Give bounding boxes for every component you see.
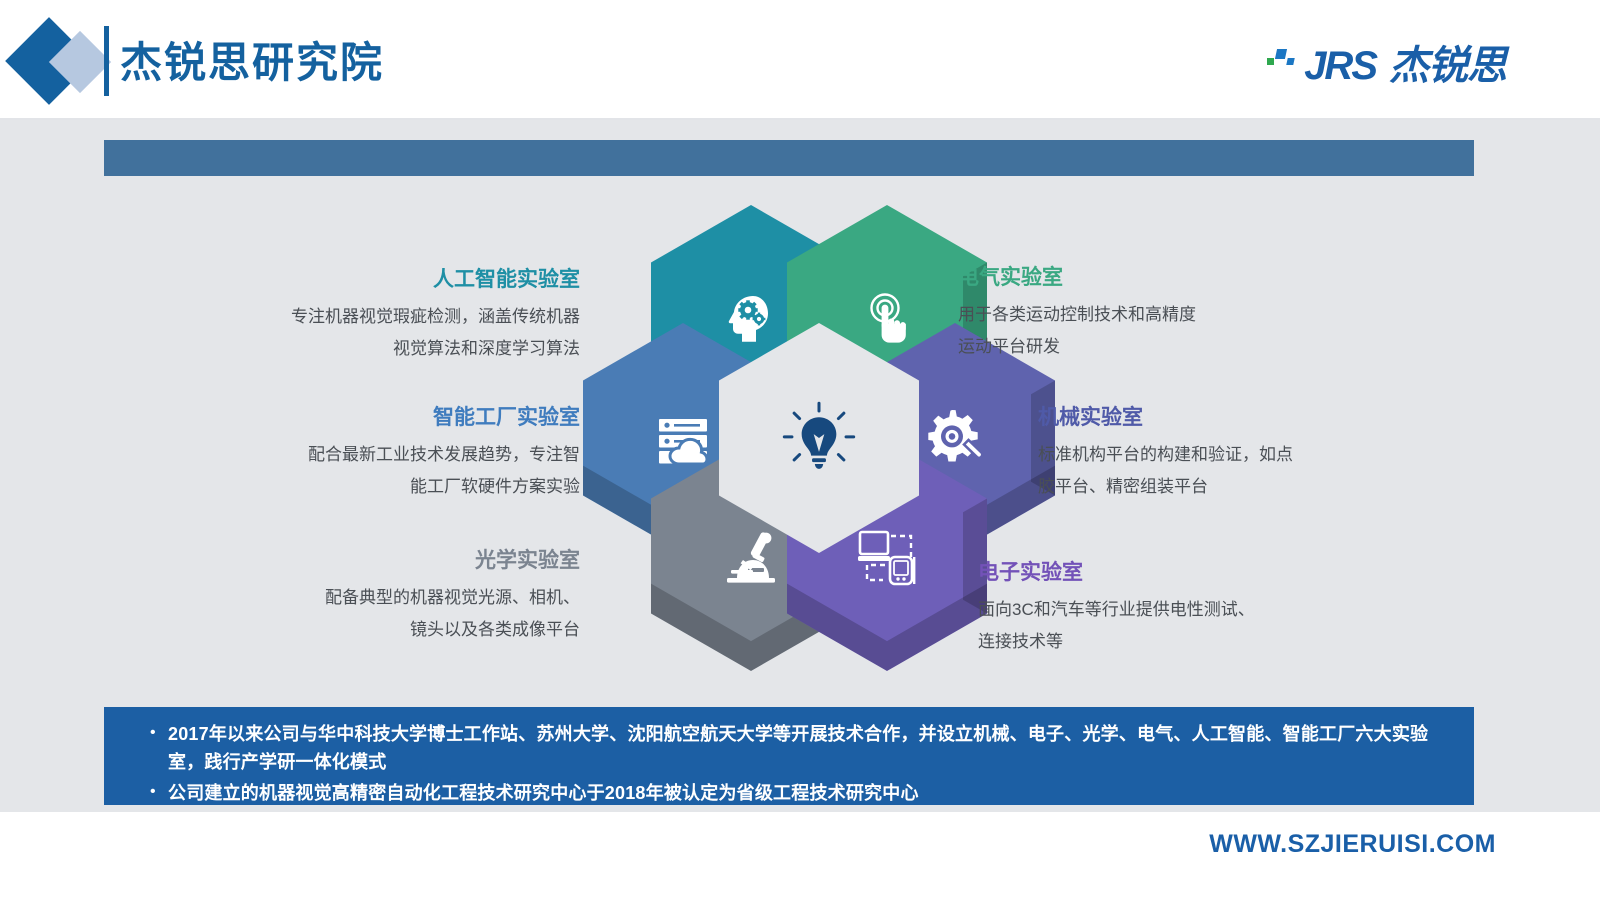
brand-logo: JRS 杰锐思 [1267, 46, 1506, 86]
label-desc-ai-line1: 专注机器视觉瑕疵检测，涵盖传统机器 [190, 301, 580, 333]
label-electronics-lab: 电子实验室 面向3C和汽车等行业提供电性测试、 连接技术等 [978, 560, 1378, 659]
section-title-bar [104, 140, 1474, 176]
page-title: 杰锐思研究院 [120, 42, 384, 84]
label-title-factory: 智能工厂实验室 [170, 405, 580, 430]
banner-bullet-2: • 公司建立的机器视觉高精密自动化工程技术研究中心于2018年被认定为省级工程技… [104, 780, 1474, 808]
label-desc-factory-line2: 能工厂软硬件方案实验 [170, 471, 580, 503]
hexagon-cluster [519, 205, 1019, 675]
slide-footer: WWW.SZJIERUISI.COM [0, 812, 1600, 900]
label-desc-elect-line2: 连接技术等 [978, 626, 1378, 658]
banner-bullet-1: • 2017年以来公司与华中科技大学博士工作站、苏州大学、沈阳航空航天大学等开展… [104, 721, 1474, 777]
banner-bullet-1-text: 2017年以来公司与华中科技大学博士工作站、苏州大学、沈阳航空航天大学等开展技术… [168, 721, 1446, 777]
label-optical-lab: 光学实验室 配备典型的机器视觉光源、相机、 镜头以及各类成像平台 [240, 548, 580, 647]
bottom-highlight-banner: • 2017年以来公司与华中科技大学博士工作站、苏州大学、沈阳航空航天大学等开展… [104, 707, 1474, 805]
label-title-elect: 电子实验室 [978, 560, 1378, 585]
label-desc-elect-line1: 面向3C和汽车等行业提供电性测试、 [978, 594, 1378, 626]
label-title-optic: 光学实验室 [240, 548, 580, 573]
label-smart-factory-lab: 智能工厂实验室 配合最新工业技术发展趋势，专注智 能工厂软硬件方案实验 [170, 405, 580, 504]
brand-jrs-text: JRS [1304, 46, 1376, 86]
slide-root: 杰锐思研究院 JRS 杰锐思 [0, 0, 1600, 900]
label-title-mech: 机械实验室 [1038, 405, 1438, 430]
label-electrical-lab: 电气实验室 用于各类运动控制技术和高精度 运动平台研发 [958, 265, 1358, 364]
label-desc-ai-line2: 视觉算法和深度学习算法 [190, 333, 580, 365]
bullet-marker-icon: • [150, 721, 168, 777]
slide-header: 杰锐思研究院 JRS 杰锐思 [0, 0, 1600, 120]
label-desc-elec-line2: 运动平台研发 [958, 331, 1358, 363]
label-title-ai: 人工智能实验室 [190, 267, 580, 292]
bullet-marker-icon: • [150, 780, 168, 808]
jrs-mark-icon [1267, 49, 1295, 83]
label-mechanical-lab: 机械实验室 标准机构平台的构建和验证，如点 胶平台、精密组装平台 [1038, 405, 1438, 504]
label-desc-mech-line1: 标准机构平台的构建和验证，如点 [1038, 439, 1438, 471]
label-ai-lab: 人工智能实验室 专注机器视觉瑕疵检测，涵盖传统机器 视觉算法和深度学习算法 [190, 267, 580, 366]
label-desc-factory-line1: 配合最新工业技术发展趋势，专注智 [170, 439, 580, 471]
label-desc-mech-line2: 胶平台、精密组装平台 [1038, 471, 1438, 503]
footer-website-url[interactable]: WWW.SZJIERUISI.COM [1209, 830, 1496, 859]
lightbulb-icon [782, 401, 856, 475]
label-desc-elec-line1: 用于各类运动控制技术和高精度 [958, 299, 1358, 331]
header-divider [104, 26, 109, 96]
label-desc-optic-line2: 镜头以及各类成像平台 [240, 614, 580, 646]
label-title-elec: 电气实验室 [958, 265, 1358, 290]
brand-chinese-text: 杰锐思 [1389, 46, 1506, 86]
banner-bullet-2-text: 公司建立的机器视觉高精密自动化工程技术研究中心于2018年被认定为省级工程技术研… [168, 780, 919, 808]
label-desc-optic-line1: 配备典型的机器视觉光源、相机、 [240, 582, 580, 614]
